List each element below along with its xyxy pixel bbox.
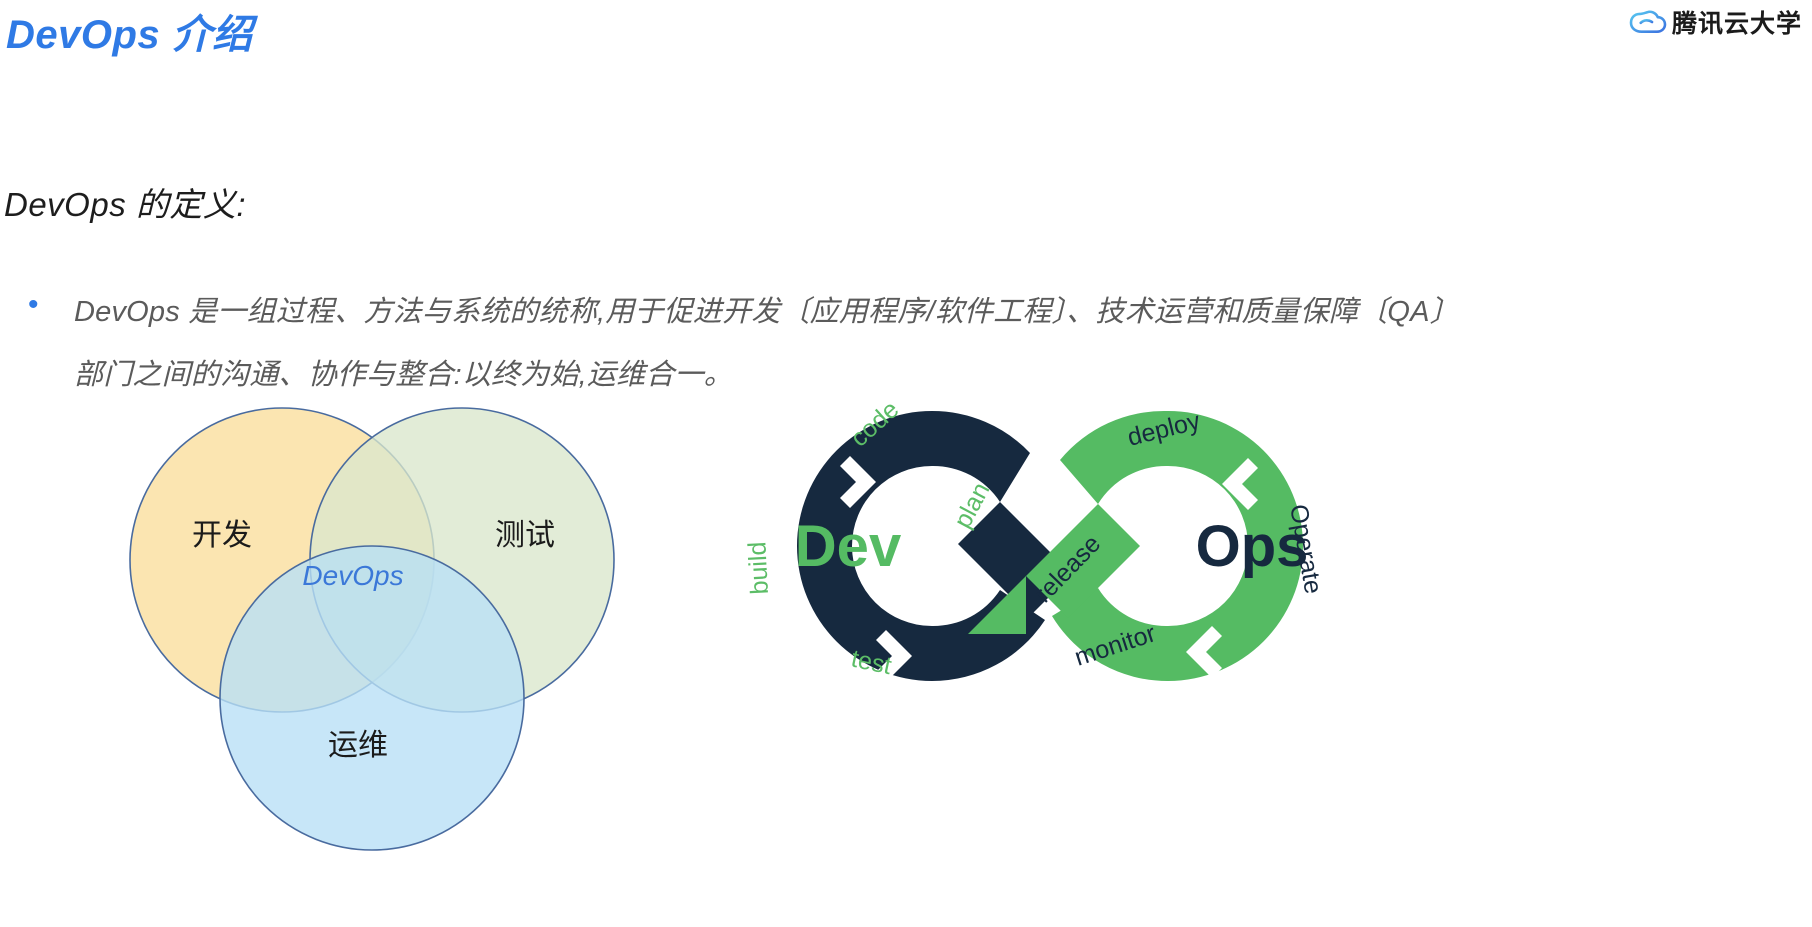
logo-label: 腾讯云大学 <box>1672 4 1802 40</box>
brand-logo: 腾讯云大学 <box>1631 4 1802 40</box>
stage-label-build: build <box>743 541 774 595</box>
release-arrowhead <box>968 576 1026 634</box>
venn-label-ops: 运维 <box>328 729 388 762</box>
bullet-marker: • <box>28 281 74 329</box>
cloud-icon <box>1631 9 1665 35</box>
page-title: DevOps 介绍 <box>6 2 253 60</box>
devops-infinity-loop: code build test plan Dev deploy Operate … <box>700 398 1400 728</box>
ops-label: Ops <box>1196 514 1309 579</box>
dev-label: Dev <box>795 514 901 579</box>
definition-bullet: • DevOps 是一组过程、方法与系统的统称,用于促进开发〔应用程序/软件工程… <box>28 281 1448 407</box>
devops-venn-diagram: 开发 测试 运维 DevOps <box>110 400 690 860</box>
venn-label-dev: 开发 <box>192 519 252 552</box>
venn-label-test: 测试 <box>495 519 555 552</box>
venn-circle-ops <box>220 546 524 850</box>
section-heading: DevOps 的定义: <box>4 178 246 226</box>
slide-root: DevOps 介绍 腾讯云大学 DevOps 的定义: • DevOps 是一组… <box>0 0 1812 927</box>
venn-center-label: DevOps <box>302 560 403 591</box>
bullet-text: DevOps 是一组过程、方法与系统的统称,用于促进开发〔应用程序/软件工程〕、… <box>74 281 1448 407</box>
